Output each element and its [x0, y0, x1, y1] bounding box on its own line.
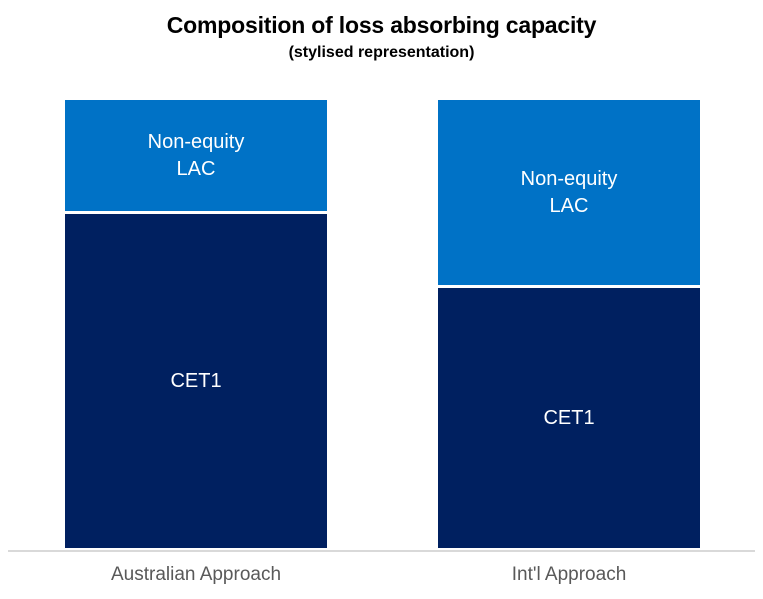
chart-container: Composition of loss absorbing capacity (…: [0, 0, 763, 599]
bar-segment-non-equity-lac[interactable]: Non-equity LAC: [65, 100, 327, 211]
bar-segment-cet1[interactable]: CET1: [438, 288, 700, 548]
bar-segment-cet1[interactable]: CET1: [65, 214, 327, 548]
bar-segment-label-non-equity-lac: Non-equity LAC: [521, 166, 618, 220]
bar-segment-label-cet1: CET1: [170, 368, 221, 395]
x-axis-line: [8, 550, 755, 552]
bar-intl-approach[interactable]: Non-equity LAC CET1: [438, 100, 700, 548]
category-label-australian-approach: Australian Approach: [46, 562, 346, 588]
bar-segment-label-non-equity-lac: Non-equity LAC: [148, 129, 245, 183]
plot-area: Non-equity LAC CET1 Non-equity LAC CET1 …: [0, 0, 763, 599]
bar-segment-label-cet1: CET1: [543, 405, 594, 432]
bar-segment-non-equity-lac[interactable]: Non-equity LAC: [438, 100, 700, 285]
category-label-intl-approach: Int'l Approach: [419, 562, 719, 588]
bar-australian-approach[interactable]: Non-equity LAC CET1: [65, 100, 327, 548]
